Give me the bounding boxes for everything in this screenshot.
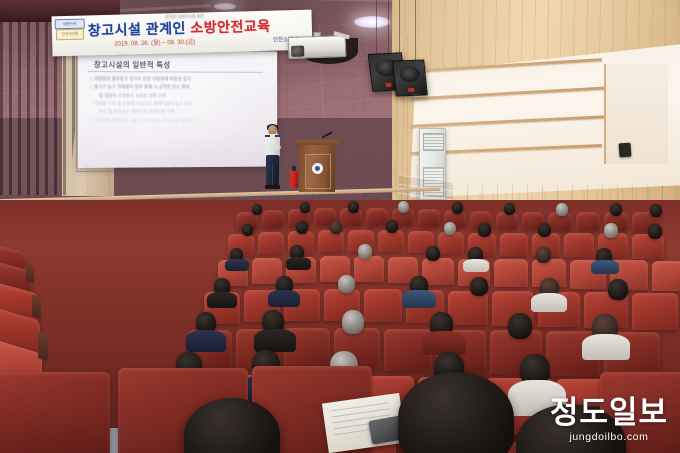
seat [564,233,594,257]
audience-head [610,203,622,216]
slide-bullet: ○ 관계인의 방화관리 소홀 및 피난시설 관리 미흡 사례 다수 [90,117,271,126]
seat [448,291,488,325]
ac-upper-vent-icon [423,133,444,151]
audience-head [648,224,662,239]
audience-shoulders [582,334,630,360]
ceiling-light-icon [214,3,236,10]
seat [258,232,284,254]
audience-shoulders [463,259,489,272]
banner-title-red: 소방안전교육 [190,18,271,36]
presenter-shoes [265,185,280,189]
seat [500,233,528,256]
audience-head [504,203,515,215]
seat [364,289,402,322]
slide-bullet: 연기 및 유독가스 확산으로 인명피해 우려 [90,108,271,116]
audience-shoulders [207,292,237,308]
banner-date: 2019. 08. 26. (월) ~ 08. 30.(금) [114,37,195,48]
speaker-suspension-wire [388,0,389,56]
presenter-leg-split [272,165,273,186]
speaker-suspension-wire [415,0,416,62]
auditorium-photo: 창고시설의 일반적 특성 ○ 대형화된 물류창고 증가로 인한 대형화재 위험성… [0,0,680,453]
projector-lens-icon [291,46,304,57]
audience-head [252,204,262,215]
slide-bullet: 및 대량의 소방용수 소요로 진화 곤란 [90,92,271,101]
slide-title: 창고시설의 일반적 특성 [94,59,171,70]
audience-head [608,279,628,300]
seat [632,293,678,330]
speaker-suspension-wire [376,0,377,54]
seat [652,261,680,291]
audience-head [470,277,488,296]
wooden-lectern [297,140,337,192]
audience-head [330,221,342,234]
speaker-brand-badge [385,83,391,87]
audience-shoulders [591,260,619,274]
audience-head [536,247,551,263]
audience-head [296,221,308,234]
audience-head [478,223,491,237]
projector-body [288,35,347,59]
institution-emblem-icon [312,163,323,174]
lectern-body [299,145,335,192]
event-banner: 대한민국 안전대전환 안전한 대한민국을 위한 창고시설 관계인 소방안전교육 … [52,10,313,57]
audience-head [426,246,440,261]
audience-shoulders [225,259,249,271]
speaker-cone-icon [398,65,420,82]
seat [366,208,388,226]
audience-head [444,222,456,235]
audience-head [386,220,398,233]
logo-bottom-text: 안전대전환 [57,30,83,40]
audience-shoulders [402,290,436,308]
seat-armrest [38,332,48,361]
speaker-brand-badge [408,88,414,92]
ceiling-light-icon [354,16,390,28]
ceiling-mounted-projector [288,31,351,59]
seat [576,212,600,231]
seat [438,232,464,254]
logo-top-text: 대한민국 [56,20,84,29]
seat [318,230,344,252]
audience-head [556,203,568,216]
audience-shoulders [286,257,311,270]
audience-head [342,310,364,334]
red-fire-extinguisher-icon [290,170,298,188]
presenter-epaulet [265,135,270,137]
logo-bottom-badge: 안전대전환 [56,29,84,41]
seat [262,210,284,228]
audience-shoulders [186,330,226,352]
wall-mounted-sensor-icon [619,143,632,158]
audience-head [300,202,310,213]
slide-body: ○ 대형화된 물류창고 증가로 인한 대형화재 위험성 증가 ○ 층고가 높고 … [90,75,271,125]
audience-head [348,201,359,213]
seat-armrest [26,263,34,283]
audience-head [358,244,372,259]
seat [0,372,110,453]
audience-shoulders [254,329,296,352]
banner-title-blue: 창고시설 관계인 [88,20,186,39]
audience-head [398,201,409,213]
seat [494,259,528,287]
audience-head [242,224,253,236]
audience-head [538,223,551,237]
audience-head [650,204,662,217]
audience-head [452,202,463,214]
audience-shoulders [531,293,567,312]
seat [418,209,440,227]
audience-head [604,223,618,238]
audience-shoulders [268,290,300,307]
audience-head [338,275,355,293]
acoustic-panel-side [604,64,668,164]
seat [354,256,384,282]
projection-screen: 창고시설의 일반적 특성 ○ 대형화된 물류창고 증가로 인한 대형화재 위험성… [78,50,277,168]
hanging-pa-speaker-right [392,60,428,97]
audience-head [508,313,532,339]
banner-logo: 대한민국 안전대전환 [55,19,84,40]
instructor-in-uniform [262,125,284,191]
slide-bullet: ○ 무창층 구조 및 단열재 사용으로 화재하중이 높고 내부 [90,100,271,108]
seat-armrest [32,295,41,320]
seat [378,230,404,252]
